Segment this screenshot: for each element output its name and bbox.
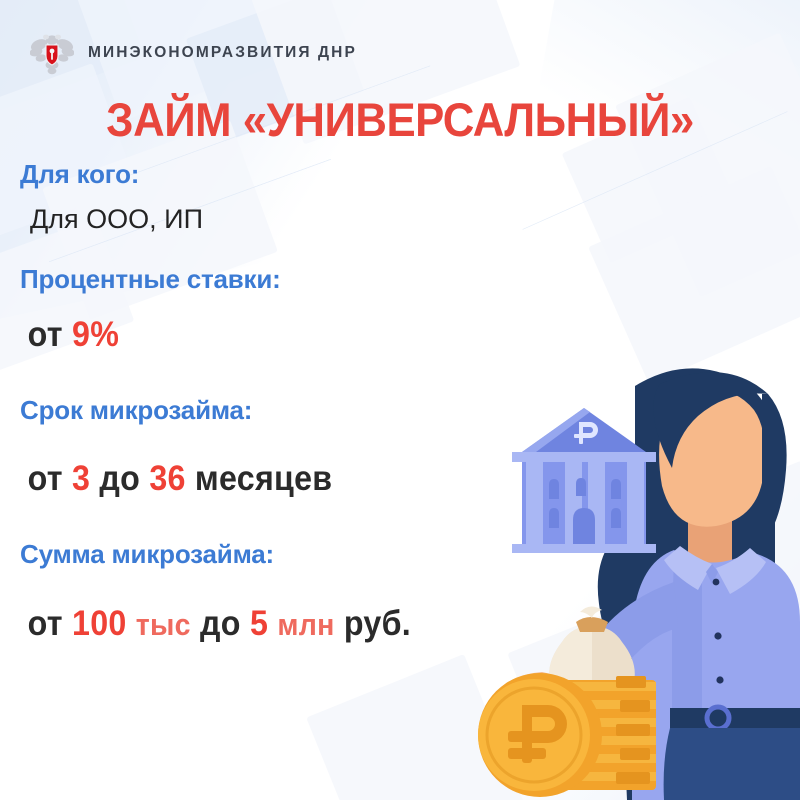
amount-middle: до bbox=[200, 604, 241, 643]
rate-prefix: от bbox=[28, 315, 63, 354]
term-min: 3 bbox=[72, 459, 90, 498]
gold-coin bbox=[478, 673, 602, 797]
amount-max-unit: млн bbox=[277, 607, 334, 642]
amount-suffix: руб. bbox=[344, 604, 411, 643]
page-title: ЗАЙМ «УНИВЕРСАЛЬНЫЙ» bbox=[28, 92, 772, 147]
field-interest-rate: Процентные ставки: от 9% bbox=[0, 265, 470, 356]
offer-details: Для кого: Для ООО, ИП Процентные ставки:… bbox=[0, 160, 470, 645]
amount-min-unit: тыс bbox=[136, 607, 191, 642]
rate-amount: 9% bbox=[72, 315, 119, 354]
field-value-interest-rate: от 9% bbox=[0, 314, 432, 356]
field-label-audience: Для кого: bbox=[0, 160, 470, 189]
field-audience: Для кого: Для ООО, ИП bbox=[0, 160, 470, 235]
poster-canvas: МИНЭКОНОМРАЗВИТИЯ ДНР ЗАЙМ «УНИВЕРСАЛЬНЫ… bbox=[0, 0, 800, 800]
field-label-amount: Сумма микрозайма: bbox=[0, 540, 470, 569]
field-amount: Сумма микрозайма: от 100 тыс до 5 млн ру… bbox=[0, 540, 470, 645]
term-max: 36 bbox=[149, 459, 185, 498]
bank-building-icon bbox=[512, 408, 656, 553]
field-value-audience: Для ООО, ИП bbox=[0, 203, 470, 235]
background-shard bbox=[615, 32, 800, 297]
illustration-woman-holding-bank bbox=[430, 350, 800, 800]
amount-min: 100 bbox=[72, 604, 127, 643]
amount-prefix: от bbox=[28, 604, 63, 643]
dnr-coat-of-arms-emblem-icon bbox=[30, 30, 74, 76]
term-prefix: от bbox=[28, 459, 63, 498]
brand-header: МИНЭКОНОМРАЗВИТИЯ ДНР bbox=[30, 30, 357, 76]
field-value-amount: от 100 тыс до 5 млн руб. bbox=[0, 603, 432, 645]
background-wash-top-right bbox=[512, 0, 800, 314]
field-term: Срок микрозайма: от 3 до 36 месяцев bbox=[0, 396, 470, 501]
term-middle: до bbox=[99, 459, 140, 498]
field-value-term: от 3 до 36 месяцев bbox=[0, 458, 432, 500]
ministry-name-label: МИНЭКОНОМРАЗВИТИЯ ДНР bbox=[88, 44, 357, 62]
field-label-interest-rate: Процентные ставки: bbox=[0, 265, 470, 294]
field-label-term: Срок микрозайма: bbox=[0, 396, 470, 425]
amount-max: 5 bbox=[250, 604, 268, 643]
term-suffix: месяцев bbox=[195, 459, 332, 498]
